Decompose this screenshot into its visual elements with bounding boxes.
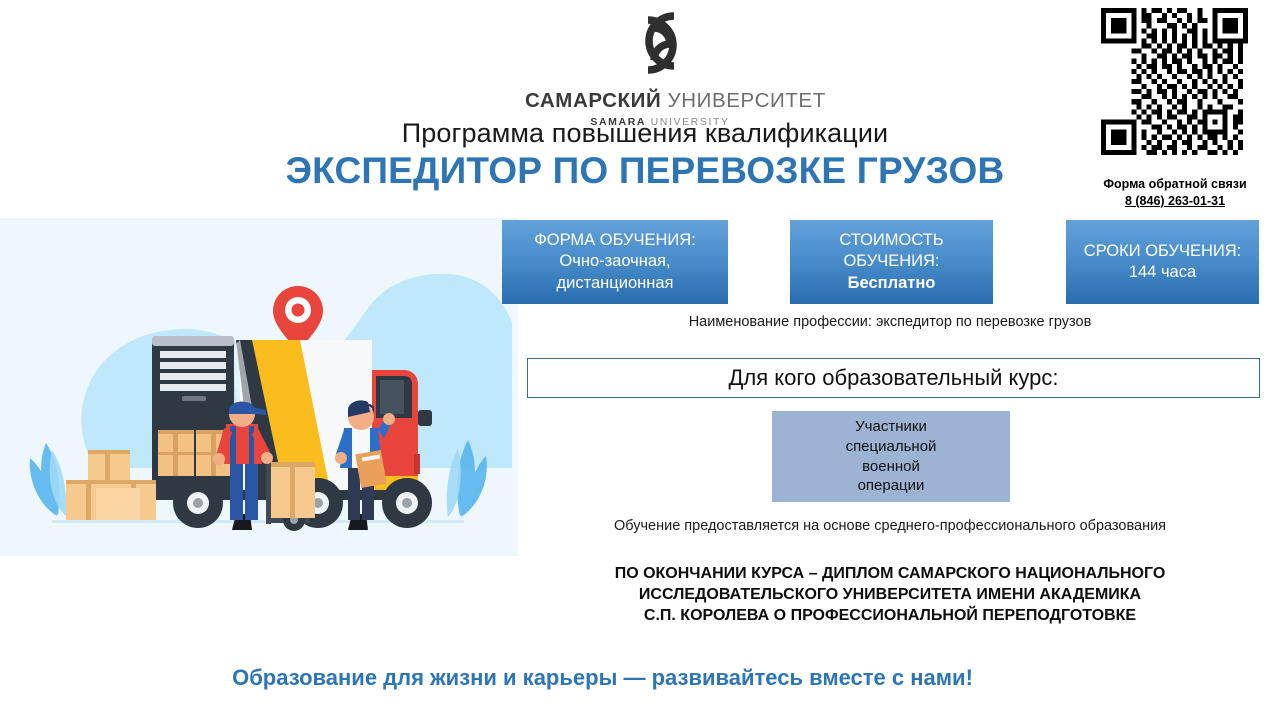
diploma-statement: ПО ОКОНЧАНИИ КУРСА – ДИПЛОМ САМАРСКОГО Н… [520, 563, 1260, 626]
cost-label-line2: ОБУЧЕНИЯ: [843, 251, 939, 272]
program-eyebrow: Программа повышения квалификации [250, 118, 1040, 149]
audience-line2: специальной [846, 437, 937, 457]
audience-line1: Участники [846, 417, 937, 437]
audience-card: Участники специальной военной операции [772, 411, 1010, 502]
duration-label: СРОКИ ОБУЧЕНИЯ: [1084, 241, 1242, 262]
cost-value: Бесплатно [848, 273, 936, 294]
feedback-form-caption: Форма обратной связи 8 (846) 263-01-31 [1060, 176, 1280, 210]
delivery-truck-illustration [0, 218, 518, 556]
contact-phone-link[interactable]: 8 (846) 263-01-31 [1060, 193, 1280, 210]
info-box-cost: СТОИМОСТЬ ОБУЧЕНИЯ: Бесплатно [790, 220, 993, 304]
page-title: ЭКСПЕДИТОР ПО ПЕРЕВОЗКЕ ГРУЗОВ [250, 150, 1040, 192]
logo-name-light: УНИВЕРСИТЕТ [668, 89, 826, 112]
info-box-duration: СРОКИ ОБУЧЕНИЯ: 144 часа [1066, 220, 1259, 304]
profession-name-line: Наименование профессии: экспедитор по пе… [520, 314, 1260, 330]
info-box-study-form: ФОРМА ОБУЧЕНИЯ: Очно-заочная, дистанцион… [502, 220, 728, 304]
feedback-form-label: Форма обратной связи [1103, 177, 1246, 191]
diploma-line1: ПО ОКОНЧАНИИ КУРСА – ДИПЛОМ САМАРСКОГО Н… [520, 563, 1260, 584]
qr-code-icon[interactable] [1101, 8, 1248, 155]
audience-line4: операции [846, 476, 937, 496]
diploma-line3: С.П. КОРОЛЕВА О ПРОФЕССИОНАЛЬНОЙ ПЕРЕПОД… [520, 605, 1260, 626]
duration-value: 144 часа [1129, 262, 1196, 283]
university-logo: САМАРСКИЙ УНИВЕРСИТЕТ SAMARA UNIVERSITY [525, 6, 795, 128]
study-form-label: ФОРМА ОБУЧЕНИЯ: [534, 230, 696, 251]
study-form-value-line2: дистанционная [557, 273, 674, 294]
for-whom-heading: Для кого образовательный курс: [728, 365, 1058, 391]
logo-name-bold: САМАРСКИЙ [525, 89, 661, 112]
slide-root: САМАРСКИЙ УНИВЕРСИТЕТ SAMARA UNIVERSITY [0, 0, 1280, 720]
base-education-note: Обучение предоставляется на основе средн… [520, 518, 1260, 534]
audience-line3: военной [846, 457, 937, 477]
samara-university-spiral-icon [525, 6, 795, 85]
diploma-line2: ИССЛЕДОВАТЕЛЬСКОГО УНИВЕРСИТЕТА ИМЕНИ АК… [520, 584, 1260, 605]
for-whom-heading-box: Для кого образовательный курс: [527, 358, 1260, 398]
cost-label-line1: СТОИМОСТЬ [839, 230, 943, 251]
footer-slogan: Образование для жизни и карьеры — развив… [0, 665, 1205, 691]
study-form-value-line1: Очно-заочная, [559, 251, 670, 272]
logo-wordmark: САМАРСКИЙ УНИВЕРСИТЕТ [525, 89, 795, 113]
